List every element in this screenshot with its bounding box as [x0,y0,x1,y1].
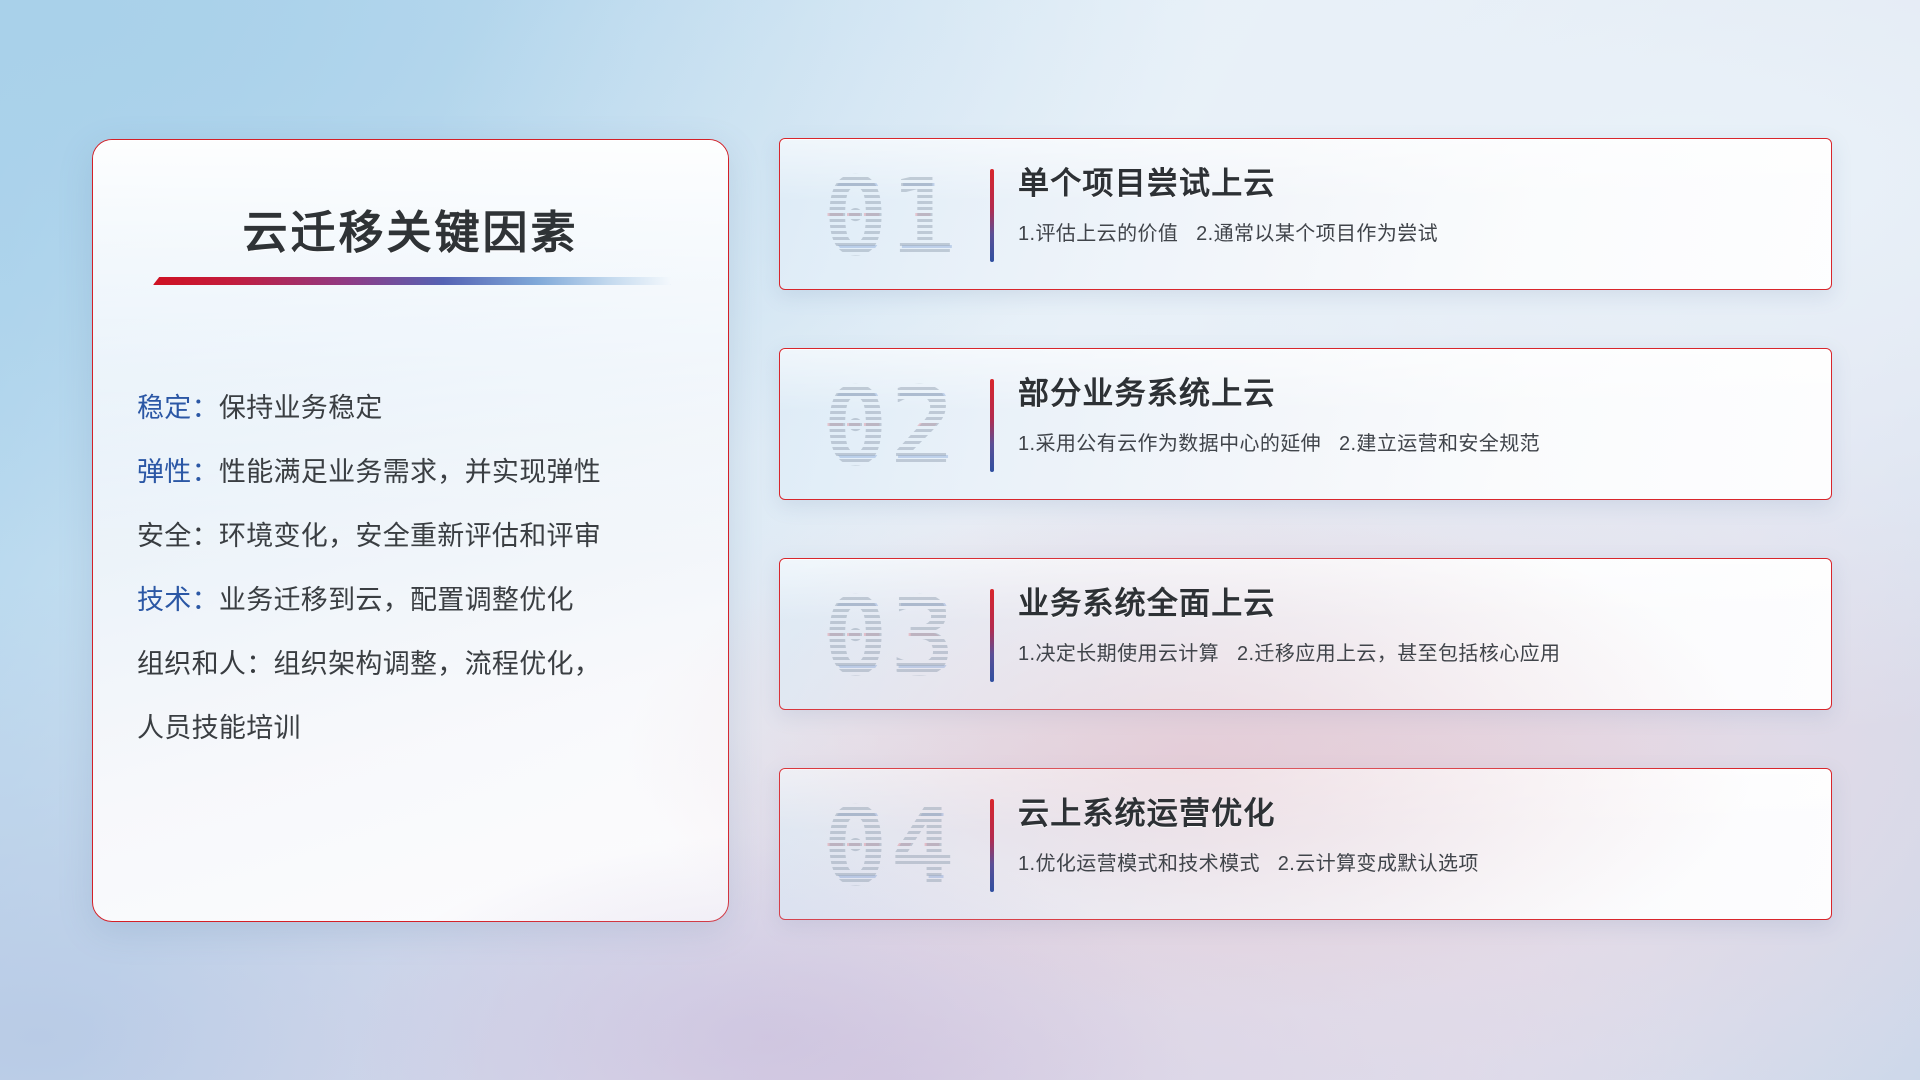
step-number-watermark: 03 03 03 [802,573,978,701]
factor-text: 人员技能培训 [137,713,301,743]
step-number-glyph-red: 01 [800,153,976,281]
title-underline-gradient [153,277,671,285]
key-factors-panel: 云迁移关键因素 稳定：保持业务稳定 弹性：性能满足业务需求，并实现弹性 安全：环… [92,139,729,922]
step-number-glyph: 02 [802,363,978,491]
factor-text: 业务迁移到云，配置调整优化 [219,585,574,615]
step-number-watermark: 02 02 02 [802,363,978,491]
factor-label: 技术： [137,585,219,615]
step-number-glyph-red: 03 [800,573,976,701]
step-title: 部分业务系统上云 [1018,371,1805,417]
step-title: 业务系统全面上云 [1018,581,1805,627]
list-item[interactable]: 03 03 03 业务系统全面上云 1.决定长期使用云计算 2.迁移应用上云，甚… [779,558,1832,710]
step-body: 单个项目尝试上云 1.评估上云的价值 2.通常以某个项目作为尝试 [1018,161,1805,249]
step-subtitle: 1.优化运营模式和技术模式 2.云计算变成默认选项 [1018,849,1805,879]
step-number-watermark: 04 04 04 [802,783,978,911]
step-title: 单个项目尝试上云 [1018,161,1805,207]
list-item[interactable]: 02 02 02 部分业务系统上云 1.采用公有云作为数据中心的延伸 2.建立运… [779,348,1832,500]
factor-text: 环境变化，安全重新评估和评审 [219,521,601,551]
step-subtitle: 1.评估上云的价值 2.通常以某个项目作为尝试 [1018,219,1805,249]
step-body: 部分业务系统上云 1.采用公有云作为数据中心的延伸 2.建立运营和安全规范 [1018,371,1805,459]
step-number-glyph-blue: 01 [804,153,980,281]
factor-label: 安全： [137,521,219,551]
step-body: 业务系统全面上云 1.决定长期使用云计算 2.迁移应用上云，甚至包括核心应用 [1018,581,1805,669]
step-number-glyph-red: 02 [800,363,976,491]
list-item: 技术：业务迁移到云，配置调整优化 [137,568,684,632]
step-number-glyph-blue: 03 [804,573,980,701]
step-number-glyph: 01 [802,153,978,281]
list-item: 稳定：保持业务稳定 [137,376,684,440]
migration-stage-list: 01 01 01 单个项目尝试上云 1.评估上云的价值 2.通常以某个项目作为尝… [779,138,1832,924]
step-body: 云上系统运营优化 1.优化运营模式和技术模式 2.云计算变成默认选项 [1018,791,1805,879]
step-number-glyph: 04 [802,783,978,911]
step-number-watermark: 01 01 01 [802,153,978,281]
factor-label: 稳定： [137,393,219,423]
step-number-glyph-blue: 02 [804,363,980,491]
step-subtitle: 1.决定长期使用云计算 2.迁移应用上云，甚至包括核心应用 [1018,639,1805,669]
slide-canvas: 云迁移关键因素 稳定：保持业务稳定 弹性：性能满足业务需求，并实现弹性 安全：环… [0,0,1920,1080]
step-divider-bar [990,799,994,892]
list-item[interactable]: 01 01 01 单个项目尝试上云 1.评估上云的价值 2.通常以某个项目作为尝… [779,138,1832,290]
step-divider-bar [990,379,994,472]
step-divider-bar [990,589,994,682]
factor-text: 组织架构调整，流程优化， [274,649,602,679]
list-item[interactable]: 04 04 04 云上系统运营优化 1.优化运营模式和技术模式 2.云计算变成默… [779,768,1832,920]
page-title: 云迁移关键因素 [93,196,728,261]
list-item-continuation: 人员技能培训 [137,696,684,760]
step-divider-bar [990,169,994,262]
step-number-glyph: 03 [802,573,978,701]
list-item: 安全：环境变化，安全重新评估和评审 [137,504,684,568]
factor-text: 保持业务稳定 [219,393,383,423]
list-item: 组织和人：组织架构调整，流程优化， [137,632,684,696]
list-item: 弹性：性能满足业务需求，并实现弹性 [137,440,684,504]
step-number-glyph-red: 04 [800,783,976,911]
step-number-glyph-blue: 04 [804,783,980,911]
factor-text: 性能满足业务需求，并实现弹性 [219,457,601,487]
factor-list: 稳定：保持业务稳定 弹性：性能满足业务需求，并实现弹性 安全：环境变化，安全重新… [93,376,728,760]
factor-label: 弹性： [137,457,219,487]
step-title: 云上系统运营优化 [1018,791,1805,837]
factor-label: 组织和人： [137,649,274,679]
step-subtitle: 1.采用公有云作为数据中心的延伸 2.建立运营和安全规范 [1018,429,1805,459]
